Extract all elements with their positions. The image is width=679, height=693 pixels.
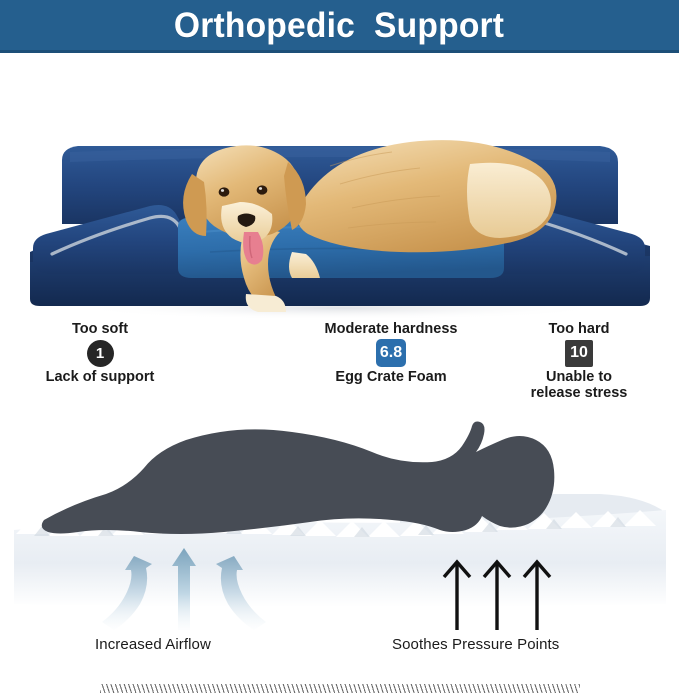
caption-soothes-pressure-points: Soothes Pressure Points [392, 636, 559, 653]
dog-bed-illustration [0, 56, 679, 318]
scale-stop-too-soft: Too soft 1 Lack of support [0, 322, 200, 385]
page-title: Orthopedic Support [174, 8, 504, 43]
scale-stop-top-label: Too hard [479, 322, 679, 337]
scale-stop-too-hard: Too hard 10 Unable to release stress [479, 322, 679, 401]
scale-stop-top-label: Moderate hardness [291, 322, 491, 337]
scale-marker-1: 1 [87, 340, 114, 367]
foam-diagram-svg [0, 418, 679, 630]
hardness-scale: Too soft 1 Lack of support Moderate hard… [0, 322, 679, 420]
product-photo [0, 56, 679, 318]
foam-cross-section-diagram [0, 418, 679, 630]
scale-stop-bottom-label: Egg Crate Foam [291, 369, 491, 385]
header-banner: Orthopedic Support [0, 0, 679, 53]
scale-stop-bottom-label-line2: release stress [479, 385, 679, 401]
scale-stop-moderate: Moderate hardness 6.8 Egg Crate Foam [291, 322, 491, 385]
scale-track-hatching [100, 684, 580, 693]
scale-track [100, 684, 580, 693]
scale-marker-row: 10 [479, 338, 679, 368]
scale-stop-top-label: Too soft [0, 322, 200, 337]
caption-row: Increased Airflow Soothes Pressure Point… [0, 634, 679, 660]
scale-stop-bottom-label: Lack of support [0, 369, 200, 385]
scale-marker-row: 6.8 [291, 338, 491, 368]
scale-stop-bottom-label-line1: Unable to [479, 369, 679, 385]
scale-marker-row: 1 [0, 338, 200, 368]
scale-marker-6-8: 6.8 [376, 339, 406, 367]
caption-increased-airflow: Increased Airflow [95, 636, 211, 653]
scale-marker-10: 10 [565, 340, 593, 367]
